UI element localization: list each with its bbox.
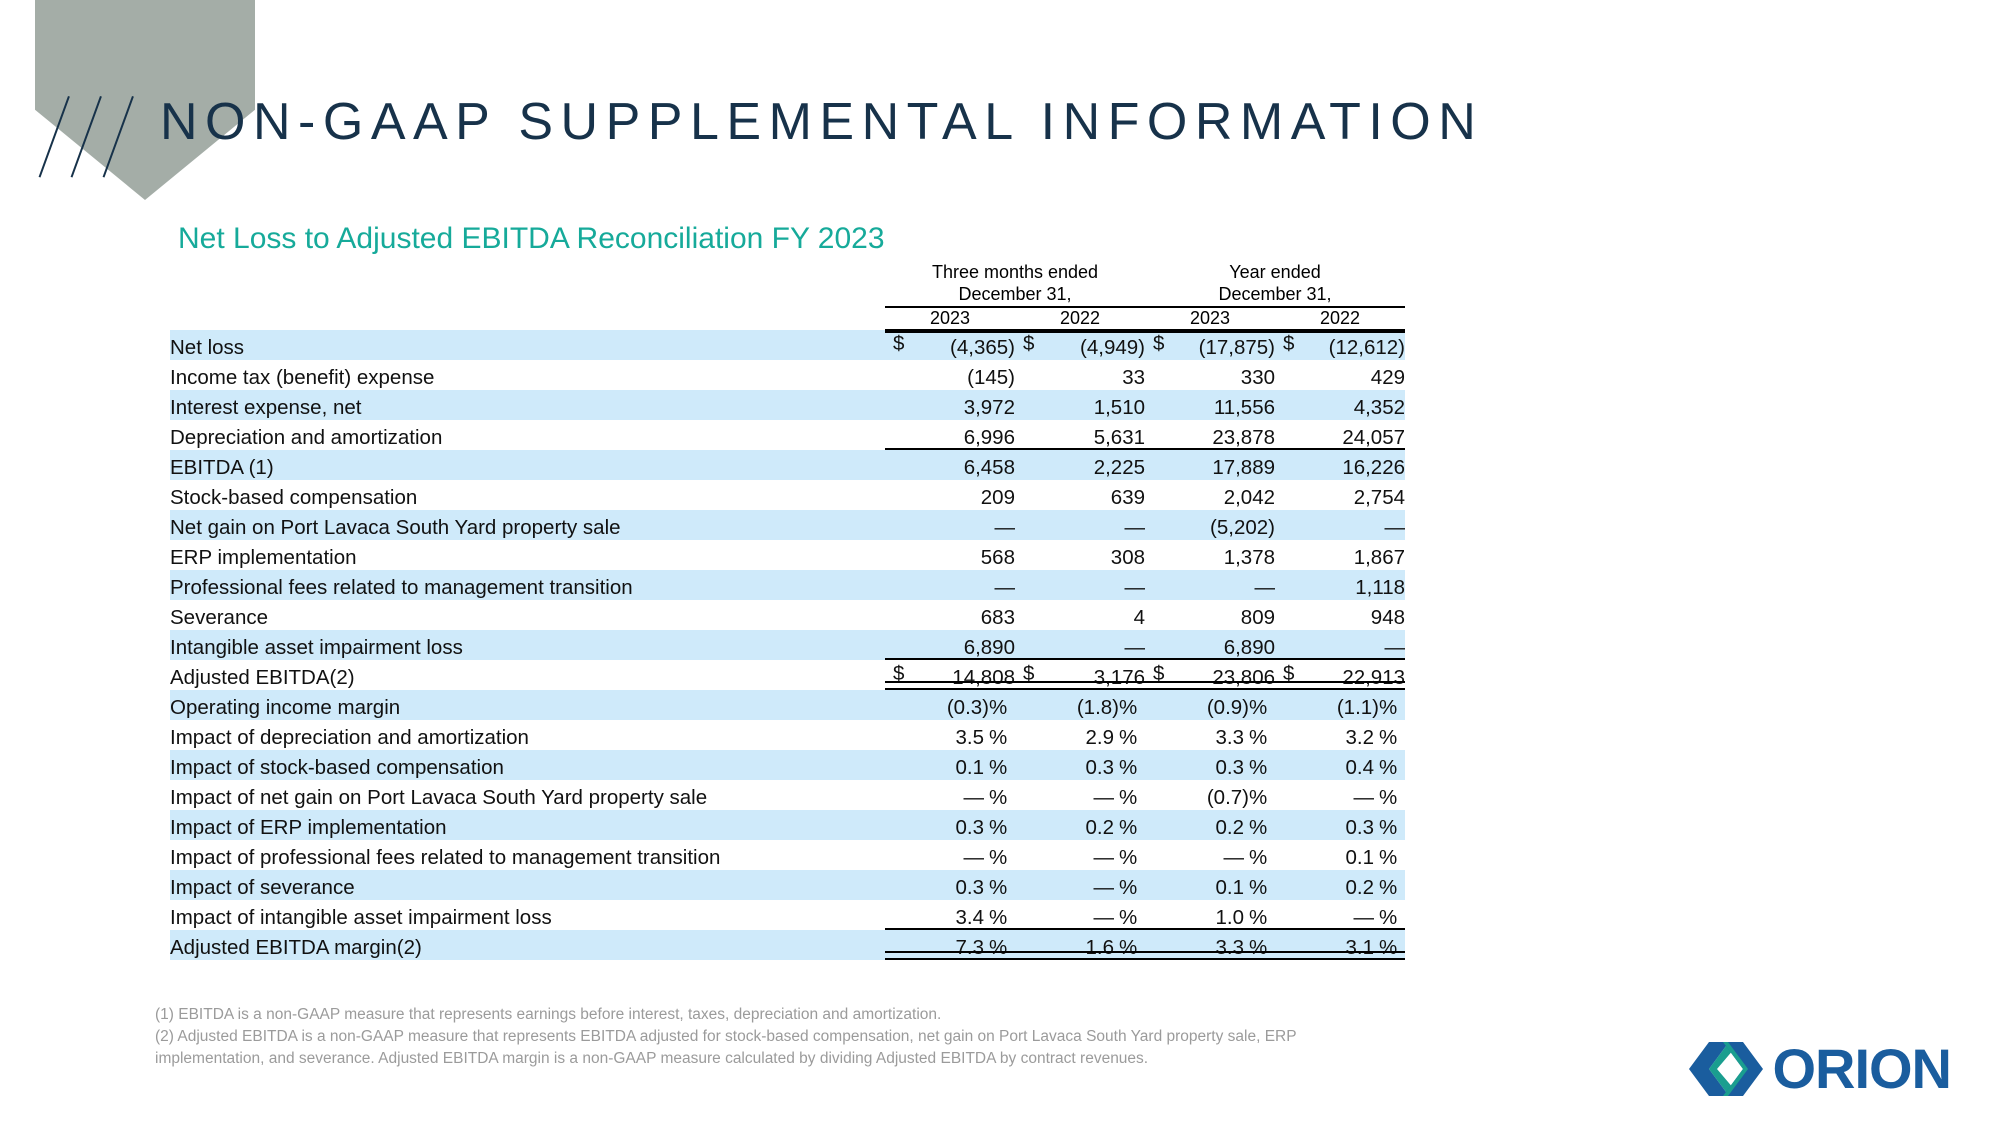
currency-symbol: $ xyxy=(1153,662,1164,686)
percent-symbol: % xyxy=(1374,816,1405,840)
currency-symbol: $ xyxy=(1023,332,1034,356)
cell-value: 809 xyxy=(1145,600,1275,630)
percent-symbol: % xyxy=(1374,876,1405,900)
cell-value: —% xyxy=(1015,840,1145,870)
cell-value: (1.1)% xyxy=(1275,690,1405,720)
table-row: Interest expense, net3,9721,51011,5564,3… xyxy=(170,390,1405,420)
row-label: Stock-based compensation xyxy=(170,480,885,510)
cell-number: 429 xyxy=(1371,366,1405,389)
cell-value: — xyxy=(1275,630,1405,660)
table-row: Impact of depreciation and amortization3… xyxy=(170,720,1405,750)
cell-number: 6,996 xyxy=(964,426,1015,449)
cell-value: 568 xyxy=(885,540,1015,570)
percent-symbol: % xyxy=(984,876,1015,900)
percent-symbol: % xyxy=(1244,876,1275,900)
cell-value: —% xyxy=(1275,900,1405,930)
group-line2: December 31, xyxy=(1145,284,1405,306)
cell-number: 5,631 xyxy=(1094,426,1145,449)
reconciliation-table: Three months ended December 31, Year end… xyxy=(170,262,1405,960)
cell-value: 0.3% xyxy=(1145,750,1275,780)
table-row: Operating income margin(0.3)%(1.8)%(0.9)… xyxy=(170,690,1405,720)
table-row: Professional fees related to management … xyxy=(170,570,1405,600)
cell-value: 948 xyxy=(1275,600,1405,630)
cell-value: —% xyxy=(885,780,1015,810)
cell-number: 6,890 xyxy=(964,636,1015,659)
page-subtitle: Net Loss to Adjusted EBITDA Reconciliati… xyxy=(178,222,885,256)
cell-value: $23,806 xyxy=(1145,660,1275,690)
percent-symbol: % xyxy=(984,936,1015,960)
cell-number: 6,458 xyxy=(964,456,1015,479)
cell-number: — xyxy=(1125,636,1146,659)
cell-value: 1,378 xyxy=(1145,540,1275,570)
cell-value: 1,867 xyxy=(1275,540,1405,570)
cell-value: (0.3)% xyxy=(885,690,1015,720)
year-header-row: 2023 2022 2023 2022 xyxy=(170,307,1405,330)
currency-symbol: $ xyxy=(1023,662,1034,686)
cell-number: 4 xyxy=(1134,606,1145,629)
percent-symbol: % xyxy=(1374,906,1405,930)
row-label: Impact of professional fees related to m… xyxy=(170,840,885,870)
cell-value: 0.4% xyxy=(1275,750,1405,780)
group-header-year: Year ended December 31, xyxy=(1145,262,1405,307)
cell-number: 330 xyxy=(1241,366,1275,389)
cell-number: — xyxy=(1094,876,1115,899)
cell-value: (5,202) xyxy=(1145,510,1275,540)
cell-number: 3.3 xyxy=(1216,726,1245,749)
row-label: Impact of ERP implementation xyxy=(170,810,885,840)
cell-number: 0.1 xyxy=(1346,846,1375,869)
table-row: Net loss$(4,365)$(4,949)$(17,875)$(12,61… xyxy=(170,330,1405,360)
table-row: Impact of professional fees related to m… xyxy=(170,840,1405,870)
cell-number: 0.3 xyxy=(1086,756,1115,779)
row-label: Net loss xyxy=(170,330,885,360)
cell-number: 809 xyxy=(1241,606,1275,629)
percent-symbol: % xyxy=(1374,936,1405,960)
cell-number: 0.3 xyxy=(1346,816,1375,839)
cell-value: —% xyxy=(1145,840,1275,870)
cell-number: 308 xyxy=(1111,546,1145,569)
cell-number: 0.3 xyxy=(1216,756,1245,779)
cell-number: 3.3 xyxy=(1216,936,1245,959)
row-label: Impact of stock-based compensation xyxy=(170,750,885,780)
cell-number: — xyxy=(1354,906,1375,929)
cell-number: — xyxy=(1094,906,1115,929)
cell-value: 4,352 xyxy=(1275,390,1405,420)
percent-symbol: % xyxy=(1114,906,1145,930)
cell-number: 3.1 xyxy=(1346,936,1375,959)
cell-value: — xyxy=(1145,570,1275,600)
cell-number: 1.6 xyxy=(1086,936,1115,959)
cell-value: 24,057 xyxy=(1275,420,1405,450)
cell-value: 429 xyxy=(1275,360,1405,390)
cell-number: (145) xyxy=(967,366,1015,389)
cell-number: 22,913 xyxy=(1342,666,1405,689)
table-row: Income tax (benefit) expense(145)3333042… xyxy=(170,360,1405,390)
cell-value: 0.1% xyxy=(885,750,1015,780)
percent-symbol: % xyxy=(1114,816,1145,840)
cell-number: 3,176 xyxy=(1094,666,1145,689)
cell-number: 6,890 xyxy=(1224,636,1275,659)
cell-value: 3.4% xyxy=(885,900,1015,930)
cell-value: (0.9)% xyxy=(1145,690,1275,720)
table-row: Net gain on Port Lavaca South Yard prope… xyxy=(170,510,1405,540)
cell-value: 6,890 xyxy=(1145,630,1275,660)
orion-logo: ORION xyxy=(1689,1041,1951,1097)
cell-number: 1,867 xyxy=(1354,546,1405,569)
row-label: Impact of intangible asset impairment lo… xyxy=(170,900,885,930)
percent-symbol: % xyxy=(984,726,1015,750)
cell-value: —% xyxy=(1015,900,1145,930)
cell-number: 4,352 xyxy=(1354,396,1405,419)
cell-value: —% xyxy=(1015,870,1145,900)
cell-number: — xyxy=(995,516,1016,539)
row-label: Intangible asset impairment loss xyxy=(170,630,885,660)
cell-value: 0.3% xyxy=(885,870,1015,900)
cell-number: 0.3 xyxy=(956,876,985,899)
cell-number: 683 xyxy=(981,606,1015,629)
cell-value: 2,754 xyxy=(1275,480,1405,510)
group-header-row: Three months ended December 31, Year end… xyxy=(170,262,1405,307)
percent-symbol: % xyxy=(1114,786,1145,810)
table-row: Impact of ERP implementation0.3%0.2%0.2%… xyxy=(170,810,1405,840)
percent-symbol: % xyxy=(1374,846,1405,870)
currency-symbol: $ xyxy=(1283,662,1294,686)
cell-number: 3.4 xyxy=(956,906,985,929)
row-label: Impact of depreciation and amortization xyxy=(170,720,885,750)
cell-number: 1,118 xyxy=(1355,576,1405,599)
cell-value: 4 xyxy=(1015,600,1145,630)
page-title: NON-GAAP SUPPLEMENTAL INFORMATION xyxy=(160,92,1483,152)
cell-value: 3.1% xyxy=(1275,930,1405,960)
cell-number: 3,972 xyxy=(964,396,1015,419)
cell-value: 1.0% xyxy=(1145,900,1275,930)
currency-symbol: $ xyxy=(893,662,904,686)
row-label: Professional fees related to management … xyxy=(170,570,885,600)
percent-symbol: % xyxy=(1374,726,1405,750)
cell-number: 3.2 xyxy=(1346,726,1375,749)
cell-number: 16,226 xyxy=(1342,456,1405,479)
footnote-2: (2) Adjusted EBITDA is a non-GAAP measur… xyxy=(155,1026,1355,1070)
group-line1: Three months ended xyxy=(885,262,1145,284)
column-header-fy-2023: 2023 xyxy=(1145,307,1275,330)
table-body: Net loss$(4,365)$(4,949)$(17,875)$(12,61… xyxy=(170,330,1405,960)
column-header-fy-2022: 2022 xyxy=(1275,307,1405,330)
cell-number: (4,949) xyxy=(1080,336,1145,359)
cell-number: 1.0 xyxy=(1216,906,1245,929)
cell-number: — xyxy=(1094,786,1115,809)
table-row: Impact of intangible asset impairment lo… xyxy=(170,900,1405,930)
cell-value: — xyxy=(1015,630,1145,660)
cell-number: — xyxy=(1385,516,1406,539)
row-label: Adjusted EBITDA margin(2) xyxy=(170,930,885,960)
cell-value: 0.3% xyxy=(1015,750,1145,780)
header-spacer xyxy=(170,262,885,307)
cell-number: 2,225 xyxy=(1094,456,1145,479)
table-row: Impact of severance0.3%—%0.1%0.2% xyxy=(170,870,1405,900)
row-label: Adjusted EBITDA(2) xyxy=(170,660,885,690)
cell-value: 3.3% xyxy=(1145,720,1275,750)
cell-value: 0.2% xyxy=(1145,810,1275,840)
cell-number: (1.1) xyxy=(1337,696,1379,719)
row-label: Impact of net gain on Port Lavaca South … xyxy=(170,780,885,810)
percent-symbol: % xyxy=(1114,876,1145,900)
table-row: Impact of net gain on Port Lavaca South … xyxy=(170,780,1405,810)
cell-value: $(4,365) xyxy=(885,330,1015,360)
cell-value: — xyxy=(885,510,1015,540)
cell-value: 1.6% xyxy=(1015,930,1145,960)
percent-symbol: % xyxy=(989,696,1015,720)
footnote-1: (1) EBITDA is a non-GAAP measure that re… xyxy=(155,1004,1355,1026)
group-header-three-months: Three months ended December 31, xyxy=(885,262,1145,307)
table-row: Adjusted EBITDA margin(2)7.3%1.6%3.3%3.1… xyxy=(170,930,1405,960)
cell-number: 0.3 xyxy=(956,816,985,839)
cell-number: — xyxy=(1125,576,1146,599)
cell-number: 0.2 xyxy=(1086,816,1115,839)
cell-number: (12,612) xyxy=(1329,336,1405,359)
cell-value: 6,890 xyxy=(885,630,1015,660)
cell-value: 639 xyxy=(1015,480,1145,510)
percent-symbol: % xyxy=(1244,816,1275,840)
cell-value: $22,913 xyxy=(1275,660,1405,690)
table-row: EBITDA (1)6,4582,22517,88916,226 xyxy=(170,450,1405,480)
cell-number: 11,556 xyxy=(1214,396,1275,419)
cell-number: 23,878 xyxy=(1212,426,1275,449)
group-line2: December 31, xyxy=(885,284,1145,306)
cell-number: 17,889 xyxy=(1212,456,1275,479)
cell-number: 0.2 xyxy=(1346,876,1375,899)
cell-number: 639 xyxy=(1111,486,1145,509)
cell-number: 0.1 xyxy=(956,756,985,779)
currency-symbol: $ xyxy=(893,332,904,356)
orion-wordmark: ORION xyxy=(1772,1041,1951,1097)
cell-number: (1.8) xyxy=(1077,696,1119,719)
row-label: Depreciation and amortization xyxy=(170,420,885,450)
row-label: EBITDA (1) xyxy=(170,450,885,480)
cell-value: (0.7)% xyxy=(1145,780,1275,810)
orion-mark-icon xyxy=(1689,1042,1763,1096)
cell-value: 5,631 xyxy=(1015,420,1145,450)
cell-value: 683 xyxy=(885,600,1015,630)
row-label: Severance xyxy=(170,600,885,630)
cell-value: $(4,949) xyxy=(1015,330,1145,360)
cell-number: — xyxy=(1224,846,1245,869)
cell-value: 0.3% xyxy=(1275,810,1405,840)
cell-value: $(12,612) xyxy=(1275,330,1405,360)
cell-value: 0.1% xyxy=(1275,840,1405,870)
cell-value: 1,118 xyxy=(1275,570,1405,600)
cell-number: 948 xyxy=(1371,606,1405,629)
header-spacer xyxy=(170,307,885,330)
percent-symbol: % xyxy=(1244,936,1275,960)
cell-value: 1,510 xyxy=(1015,390,1145,420)
cell-number: 2,042 xyxy=(1224,486,1275,509)
percent-symbol: % xyxy=(1114,756,1145,780)
cell-value: (1.8)% xyxy=(1015,690,1145,720)
percent-symbol: % xyxy=(1244,726,1275,750)
cell-value: — xyxy=(1015,510,1145,540)
cell-value: 2,042 xyxy=(1145,480,1275,510)
cell-number: — xyxy=(964,846,985,869)
cell-number: 33 xyxy=(1122,366,1145,389)
percent-symbol: % xyxy=(1244,906,1275,930)
reconciliation-table-wrap: Three months ended December 31, Year end… xyxy=(170,262,1405,960)
cell-value: 209 xyxy=(885,480,1015,510)
cell-value: 0.2% xyxy=(1015,810,1145,840)
percent-symbol: % xyxy=(1244,846,1275,870)
cell-value: —% xyxy=(1015,780,1145,810)
cell-number: — xyxy=(1125,516,1146,539)
percent-symbol: % xyxy=(984,756,1015,780)
cell-number: (5,202) xyxy=(1210,516,1275,539)
percent-symbol: % xyxy=(1249,786,1275,810)
cell-value: $14,808 xyxy=(885,660,1015,690)
cell-value: — xyxy=(1015,570,1145,600)
cell-value: 0.1% xyxy=(1145,870,1275,900)
cell-number: 0.1 xyxy=(1216,876,1245,899)
percent-symbol: % xyxy=(1249,696,1275,720)
cell-value: 6,458 xyxy=(885,450,1015,480)
cell-number: (0.3) xyxy=(947,696,989,719)
cell-value: $(17,875) xyxy=(1145,330,1275,360)
row-label: Interest expense, net xyxy=(170,390,885,420)
cell-value: 23,878 xyxy=(1145,420,1275,450)
percent-symbol: % xyxy=(984,906,1015,930)
cell-value: 33 xyxy=(1015,360,1145,390)
cell-number: 1,378 xyxy=(1224,546,1275,569)
cell-number: — xyxy=(1385,636,1406,659)
cell-value: 3,972 xyxy=(885,390,1015,420)
cell-number: 2.9 xyxy=(1086,726,1115,749)
table-row: Impact of stock-based compensation0.1%0.… xyxy=(170,750,1405,780)
column-header-q4-2022: 2022 xyxy=(1015,307,1145,330)
row-label: Income tax (benefit) expense xyxy=(170,360,885,390)
cell-value: 330 xyxy=(1145,360,1275,390)
cell-value: $3,176 xyxy=(1015,660,1145,690)
cell-number: 7.3 xyxy=(956,936,985,959)
cell-number: 0.4 xyxy=(1346,756,1375,779)
cell-value: 3.3% xyxy=(1145,930,1275,960)
table-row: Stock-based compensation2096392,0422,754 xyxy=(170,480,1405,510)
percent-symbol: % xyxy=(1379,696,1405,720)
cell-value: — xyxy=(885,570,1015,600)
percent-symbol: % xyxy=(1244,756,1275,780)
cell-number: 209 xyxy=(981,486,1015,509)
cell-value: 7.3% xyxy=(885,930,1015,960)
row-label: Net gain on Port Lavaca South Yard prope… xyxy=(170,510,885,540)
currency-symbol: $ xyxy=(1283,332,1294,356)
cell-number: — xyxy=(964,786,985,809)
percent-symbol: % xyxy=(984,786,1015,810)
cell-number: — xyxy=(1094,846,1115,869)
cell-value: 16,226 xyxy=(1275,450,1405,480)
cell-number: 23,806 xyxy=(1212,666,1275,689)
percent-symbol: % xyxy=(1374,756,1405,780)
row-label: Operating income margin xyxy=(170,690,885,720)
table-row: Depreciation and amortization6,9965,6312… xyxy=(170,420,1405,450)
row-label: ERP implementation xyxy=(170,540,885,570)
cell-number: 24,057 xyxy=(1342,426,1405,449)
cell-number: 0.2 xyxy=(1216,816,1245,839)
cell-value: 3.5% xyxy=(885,720,1015,750)
cell-value: 3.2% xyxy=(1275,720,1405,750)
cell-value: —% xyxy=(1275,780,1405,810)
currency-symbol: $ xyxy=(1153,332,1164,356)
cell-number: (0.9) xyxy=(1207,696,1249,719)
cell-value: —% xyxy=(885,840,1015,870)
cell-number: 3.5 xyxy=(956,726,985,749)
cell-number: 1,510 xyxy=(1094,396,1145,419)
slide: NON-GAAP SUPPLEMENTAL INFORMATION Net Lo… xyxy=(0,0,1999,1125)
table-head: Three months ended December 31, Year end… xyxy=(170,262,1405,330)
cell-value: 2.9% xyxy=(1015,720,1145,750)
cell-value: 308 xyxy=(1015,540,1145,570)
cell-number: 568 xyxy=(981,546,1015,569)
table-row: Intangible asset impairment loss6,890—6,… xyxy=(170,630,1405,660)
cell-value: 0.3% xyxy=(885,810,1015,840)
row-label: Impact of severance xyxy=(170,870,885,900)
cell-number: 14,808 xyxy=(952,666,1015,689)
table-row: Severance6834809948 xyxy=(170,600,1405,630)
percent-symbol: % xyxy=(1114,726,1145,750)
table-row: ERP implementation5683081,3781,867 xyxy=(170,540,1405,570)
cell-number: (0.7) xyxy=(1207,786,1249,809)
column-header-q4-2023: 2023 xyxy=(885,307,1015,330)
cell-value: 0.2% xyxy=(1275,870,1405,900)
cell-number: — xyxy=(1255,576,1276,599)
cell-value: 2,225 xyxy=(1015,450,1145,480)
cell-number: (17,875) xyxy=(1199,336,1275,359)
footnotes: (1) EBITDA is a non-GAAP measure that re… xyxy=(155,1004,1355,1070)
percent-symbol: % xyxy=(984,846,1015,870)
cell-number: (4,365) xyxy=(950,336,1015,359)
percent-symbol: % xyxy=(984,816,1015,840)
percent-symbol: % xyxy=(1119,696,1145,720)
percent-symbol: % xyxy=(1114,846,1145,870)
cell-value: 11,556 xyxy=(1145,390,1275,420)
percent-symbol: % xyxy=(1114,936,1145,960)
cell-value: 17,889 xyxy=(1145,450,1275,480)
cell-number: — xyxy=(995,576,1016,599)
cell-value: — xyxy=(1275,510,1405,540)
cell-value: (145) xyxy=(885,360,1015,390)
table-row: Adjusted EBITDA(2)$14,808$3,176$23,806$2… xyxy=(170,660,1405,690)
cell-number: 2,754 xyxy=(1354,486,1405,509)
cell-value: 6,996 xyxy=(885,420,1015,450)
cell-number: — xyxy=(1354,786,1375,809)
group-line1: Year ended xyxy=(1145,262,1405,284)
percent-symbol: % xyxy=(1374,786,1405,810)
